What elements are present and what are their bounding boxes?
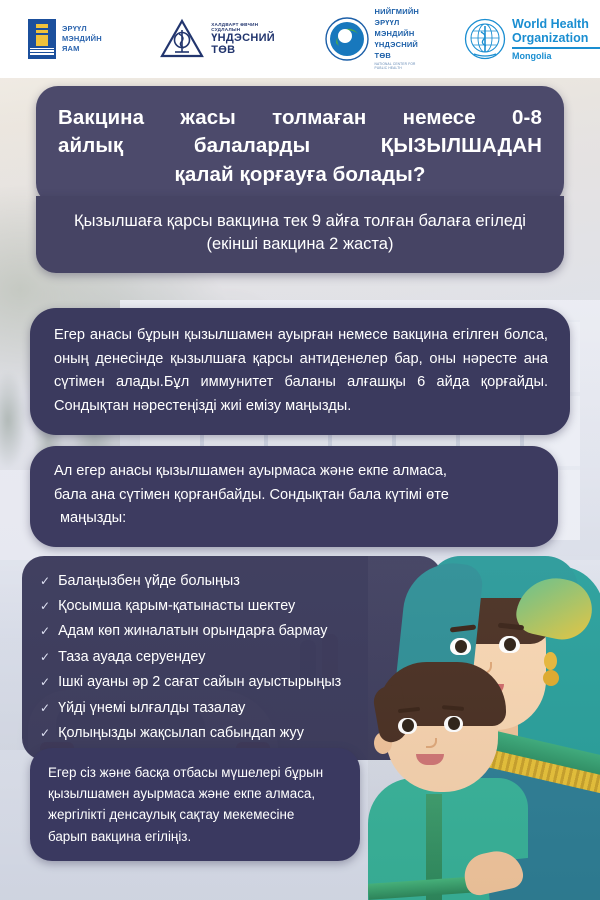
body-paragraph-2-line-3: маңызды:: [54, 507, 536, 531]
body-paragraph-3-line-1: Егер сіз және басқа отбасы мүшелері бұры…: [48, 762, 342, 783]
ncc-big-line: ҮНДЭСНИЙ ТӨВ: [211, 32, 278, 56]
mother-holding-child-illustration: [368, 556, 600, 900]
logo-who-text: World Health Organization Mongolia: [512, 17, 600, 61]
triangle-snake-staff-icon: [159, 18, 205, 60]
nchd-tiny-line: NATIONAL CENTER FOR PUBLIC HEALTH: [375, 62, 424, 71]
list-item-label: Үйді үнемі ылғалды тазалау: [58, 698, 245, 718]
list-item-label: Қолыңызды жақсылап сабындап жуу: [58, 723, 304, 743]
nchd-line-2: ЭРҮҮЛ МЭНДИЙН: [375, 18, 424, 40]
body-paragraph-2-line-2: бала ана сүтімен қорғанбайды. Сондықтан …: [54, 484, 536, 508]
check-icon: ✓: [40, 575, 50, 587]
list-item-label: Адам көп жиналатын орындарға бармау: [58, 621, 327, 641]
list-item: ✓ Ішкі ауаны әр 2 сағат сайын ауыстырыңы…: [40, 670, 424, 695]
body-paragraph-3: Егер сіз және басқа отбасы мүшелері бұры…: [30, 748, 360, 861]
logo-nchd-text: НИЙГМИЙН ЭРҮҮЛ МЭНДИЙН ҮНДЭСНИЙ ТӨВ NATI…: [375, 7, 424, 71]
mother-earring-lower: [543, 670, 559, 686]
body-paragraph-3-line-2: қызылшамен ауырмаса және екпе алмаса,: [48, 783, 342, 804]
child-pupil-right: [448, 717, 460, 730]
nchd-line-1: НИЙГМИЙН: [375, 7, 424, 18]
soyombo-icon: [36, 24, 48, 46]
body-paragraph-3-line-4: барып вакцина егіліңіз.: [48, 826, 342, 847]
check-icon: ✓: [40, 625, 50, 637]
body-paragraph-1: Егер анасы бұрын қызылшамен ауырған неме…: [30, 308, 570, 435]
logo-ministry-of-health-text: ЭРҮҮЛ МЭНДИЙН ЯАМ: [62, 24, 111, 54]
logo-ministry-of-health: ЭРҮҮЛ МЭНДИЙН ЯАМ: [28, 19, 111, 59]
logo-national-center-public-health: НИЙГМИЙН ЭРҮҮЛ МЭНДИЙН ҮНДЭСНИЙ ТӨВ NATI…: [325, 7, 424, 71]
list-item: ✓ Үйді үнемі ылғалды тазалау: [40, 695, 424, 720]
title-line-3: қалай қорғауға болады?: [58, 161, 542, 189]
body-paragraph-2-line-1: Ал егер анасы қызылшамен ауырмаса және е…: [54, 460, 536, 484]
list-item: ✓ Адам көп жиналатын орындарға бармау: [40, 619, 424, 644]
ncc-small-line: ХАЛДВАРТ ӨВЧИН СУДЛАЛЫН: [211, 22, 278, 32]
body-paragraph-1-text: Егер анасы бұрын қызылшамен ауырған неме…: [54, 327, 548, 414]
title-line-1: Вакцина жасы толмаған немесе 0-8: [58, 104, 542, 132]
list-item: ✓ Балаңызбен үйде болыңыз: [40, 568, 424, 593]
body-paragraph-3-line-3: жергілікті денсаулық сақтау мекемесіне: [48, 804, 342, 825]
who-line-2: Organization: [512, 31, 600, 45]
subtitle-line-1: Қызылшаға қарсы вакцина тек 9 айға толға…: [74, 212, 471, 230]
list-item-label: Балаңызбен үйде болыңыз: [58, 571, 240, 591]
child-pupil-left: [402, 719, 414, 732]
check-icon: ✓: [40, 702, 50, 714]
logo-ncc-text: ХАЛДВАРТ ӨВЧИН СУДЛАЛЫН ҮНДЭСНИЙ ТӨВ: [211, 22, 278, 56]
moh-line-2: МЭНДИЙН ЯАМ: [62, 34, 111, 54]
logo-world-health-organization: World Health Organization Mongolia: [464, 17, 600, 61]
mother-pupil-left: [455, 640, 467, 653]
check-icon: ✓: [40, 676, 50, 688]
poster-title: Вакцина жасы толмаған немесе 0-8 айлық б…: [36, 86, 564, 205]
nchd-line-3: ҮНДЭСНИЙ ТӨВ: [375, 40, 424, 62]
poster-subtitle: Қызылшаға қарсы вакцина тек 9 айға толға…: [36, 196, 564, 273]
moh-line-1: ЭРҮҮЛ: [62, 24, 111, 34]
list-item-label: Қосымша қарым-қатынасты шектеу: [58, 596, 295, 616]
body-paragraph-2: Ал егер анасы қызылшамен ауырмаса және е…: [30, 446, 558, 547]
mother-pupil-right: [504, 638, 516, 651]
list-item-label: Таза ауада серуендеу: [58, 647, 205, 667]
logo-ncc-diseases: ХАЛДВАРТ ӨВЧИН СУДЛАЛЫН ҮНДЭСНИЙ ТӨВ: [159, 18, 278, 60]
who-divider: [512, 47, 600, 49]
mother-earring-upper: [544, 652, 557, 670]
title-line-2: айлық балаларды ҚЫЗЫЛШАДАН: [58, 132, 542, 160]
circular-swirl-icon: [325, 17, 369, 61]
who-country: Mongolia: [512, 51, 600, 61]
who-emblem-icon: [464, 18, 506, 60]
emblem-caption-strip: [30, 48, 54, 55]
list-item: ✓ Қолыңызды жақсылап сабындап жуу: [40, 721, 424, 746]
check-icon: ✓: [40, 651, 50, 663]
infographic-poster: ЭРҮҮЛ МЭНДИЙН ЯАМ ХАЛДВАРТ ӨВЧИН СУДЛАЛЫ…: [0, 0, 600, 900]
check-icon: ✓: [40, 727, 50, 739]
mongolia-state-emblem-icon: [28, 19, 56, 59]
list-item: ✓ Таза ауада серуендеу: [40, 644, 424, 669]
list-item: ✓ Қосымша қарым-қатынасты шектеу: [40, 593, 424, 618]
check-icon: ✓: [40, 600, 50, 612]
list-item-label: Ішкі ауаны әр 2 сағат сайын ауыстырыңыз: [58, 672, 341, 692]
logo-bar: ЭРҮҮЛ МЭНДИЙН ЯАМ ХАЛДВАРТ ӨВЧИН СУДЛАЛЫ…: [0, 0, 600, 78]
who-line-1: World Health: [512, 17, 600, 31]
